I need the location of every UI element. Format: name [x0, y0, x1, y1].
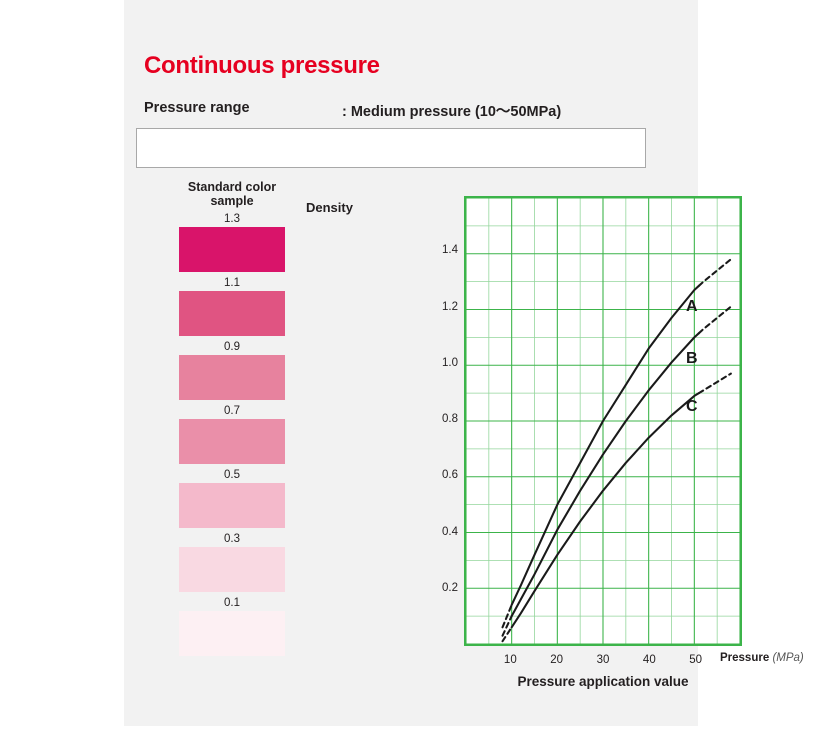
plot-area [464, 196, 742, 646]
x-tick-label: 20 [537, 654, 577, 666]
note-input-box[interactable] [136, 128, 646, 168]
curve-c-solid [512, 393, 699, 627]
page-title: Continuous pressure [144, 52, 380, 80]
curve-c-dashed [699, 374, 731, 394]
density-pressure-chart: Density 0.20.40.60.81.01.21.4 1020304050… [274, 180, 694, 700]
swatch-chip [179, 291, 285, 336]
curve-a-solid [512, 286, 699, 605]
swatch-chip [179, 611, 285, 656]
curve-b-dashed [699, 307, 731, 333]
x-axis-title: Pressure application value [464, 674, 742, 689]
y-tick-label: 0.6 [412, 469, 458, 481]
swatch-chip [179, 419, 285, 464]
curve-label-a: A [686, 298, 698, 316]
x-tick-label: 10 [490, 654, 530, 666]
pressure-range-label: Pressure range [144, 100, 250, 116]
y-tick-label: 0.2 [412, 582, 458, 594]
swatch-chip [179, 547, 285, 592]
y-tick-label: 0.4 [412, 526, 458, 538]
content-panel: Continuous pressure Pressure range : Med… [124, 0, 698, 726]
y-tick-label: 1.4 [412, 244, 458, 256]
x-axis-unit: Pressure (MPa) [720, 652, 804, 664]
curve-label-b: B [686, 350, 698, 368]
swatch-chip [179, 355, 285, 400]
curve-label-c: C [686, 398, 698, 416]
x-axis-unit-bold: Pressure [720, 652, 769, 664]
swatch-chip [179, 483, 285, 528]
x-tick-label: 50 [676, 654, 716, 666]
curve-b-solid [512, 333, 699, 616]
pressure-range-value: : Medium pressure (10〜50MPa) [342, 100, 561, 121]
y-axis-title: Density [306, 200, 353, 215]
plot-svg [466, 198, 740, 644]
x-tick-label: 30 [583, 654, 623, 666]
swatch-chip [179, 227, 285, 272]
curve-paths [503, 259, 731, 641]
x-axis-unit-italic: (MPa) [772, 652, 803, 664]
x-tick-label: 40 [629, 654, 669, 666]
y-tick-label: 0.8 [412, 413, 458, 425]
y-tick-label: 1.0 [412, 357, 458, 369]
y-tick-label: 1.2 [412, 301, 458, 313]
